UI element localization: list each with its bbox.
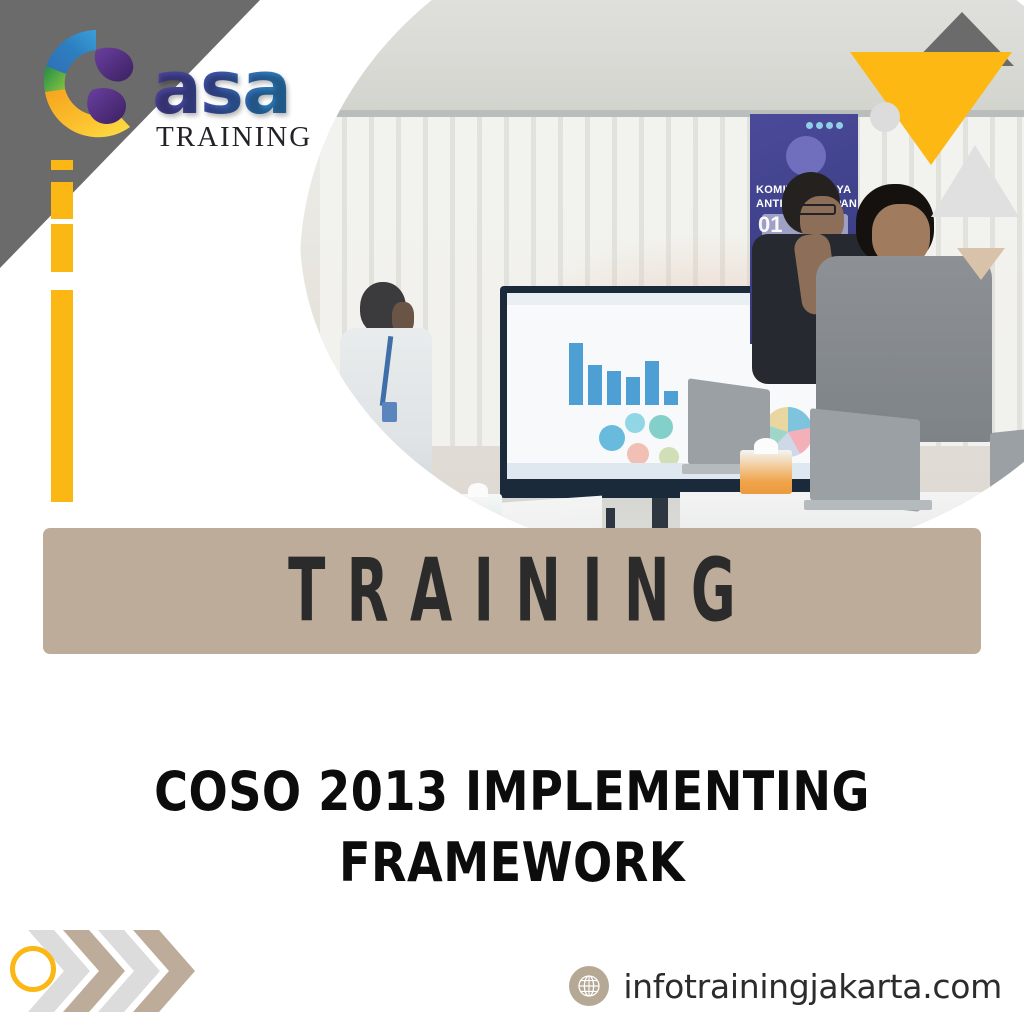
light-grey-triangle-up-decor [931,145,1019,217]
title-line-1: COSO 2013 IMPLEMENTING [83,756,942,827]
training-banner-label: TRAINING [267,540,757,641]
tan-triangle-down-decor [957,248,1005,280]
page-title: COSO 2013 IMPLEMENTING FRAMEWORK [83,756,942,899]
logo-training-text: TRAINING [156,121,312,154]
screen-bar-chart [569,339,678,405]
globe-icon [569,966,609,1006]
yellow-ring-decor [10,946,56,992]
logo-wordmark: asa TRAINING [152,58,312,154]
yellow-dash-2 [51,182,73,219]
training-banner: TRAINING [43,528,981,654]
website-footer[interactable]: infotrainingjakarta.com [569,966,1002,1006]
yellow-dash-4 [51,290,73,502]
casa-training-logo[interactable]: asa TRAINING [34,22,334,162]
tissue-box-right [740,450,792,494]
website-url[interactable]: infotrainingjakarta.com [623,967,1002,1006]
eyeglasses-icon [796,204,836,215]
casa-circle-logo-icon [34,22,159,147]
laptop-2 [810,408,920,512]
poster-canvas: KOMITMEN SAYA ANTI PENYUAPAN 01 02 [0,0,1024,1024]
tissue-box-left [452,494,502,530]
light-grey-circle-decor [870,102,900,132]
laptop-3 [990,423,1024,517]
title-line-2: FRAMEWORK [83,827,942,898]
logo-asa-text: asa [152,58,312,119]
yellow-dash-3 [51,224,73,272]
